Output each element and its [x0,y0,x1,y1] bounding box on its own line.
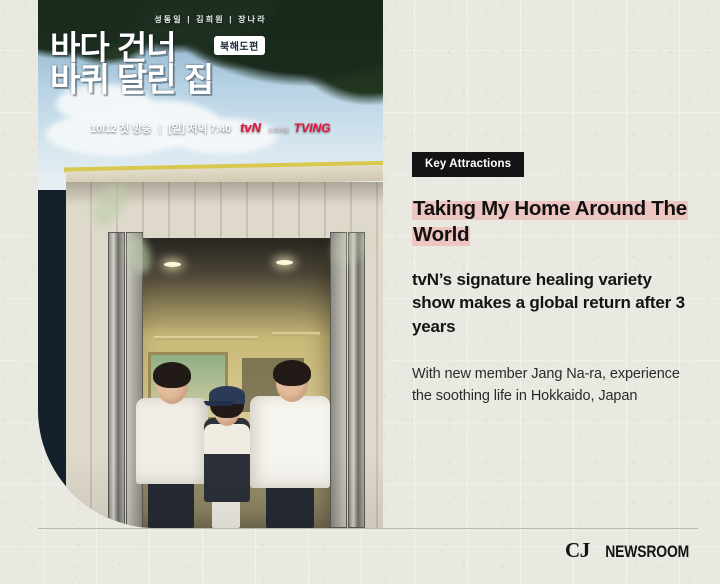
headline: Taking My Home Around The World [412,196,692,248]
person-shirt [204,424,250,454]
air-time: [일] 저녁 7:40 [168,123,231,135]
poster-cast-names: 성동일 | 김희원 | 장나라 [38,14,383,25]
interior-shelf [154,336,258,340]
streaming-label: 스트리밍 [268,128,289,134]
poster-title-line2: 바퀴 달린 집 [50,64,300,96]
newsroom-card: 성동일 | 김희원 | 장나라 바다 건너 바퀴 달린 집 북해도편 10/12… [0,0,720,584]
poster-air-info: 10/12 첫 방송 | [일] 저녁 7:40 tvN 스트리밍 TVING [38,120,383,136]
cast-photo-group [134,352,330,528]
folding-door-panel [330,232,347,528]
cap-brim [204,401,234,406]
person-hair [273,360,311,386]
content-column: Key Attractions Taking My Home Around Th… [412,0,698,528]
poster-region-badge: 북해도편 [214,36,265,55]
ceiling-light [276,260,293,265]
person-torso [250,396,330,488]
folding-door-panel [108,232,125,528]
person-hair [153,362,191,388]
cast-member-right [250,350,330,528]
body-text: With new member Jang Na-ra, experience t… [412,363,680,407]
air-info-separator: | [158,123,161,135]
headline-text: Taking My Home Around The World [412,197,688,246]
poster-artwork: 성동일 | 김희원 | 장나라 바다 건너 바퀴 달린 집 북해도편 10/12… [38,0,383,528]
cast-member-center [196,366,258,528]
interior-shelf [272,332,320,336]
folding-door-panel [348,232,365,528]
show-poster[interactable]: 성동일 | 김희원 | 장나라 바다 건너 바퀴 달린 집 북해도편 10/12… [38,0,383,528]
footer-divider [38,528,698,529]
subheadline: tvN’s signature healing variety show mak… [412,268,692,338]
ceiling-light [164,262,181,267]
newsroom-wordmark: NEWSROOM [605,542,689,562]
cj-mark: CJ [565,538,590,563]
key-attractions-badge: Key Attractions [412,152,524,177]
tvn-logo: tvN [240,120,261,135]
cj-newsroom-logo[interactable]: CJ NEWSROOM [565,538,698,563]
tving-logo: TVING [294,121,331,135]
air-date: 10/12 첫 방송 [90,123,151,135]
